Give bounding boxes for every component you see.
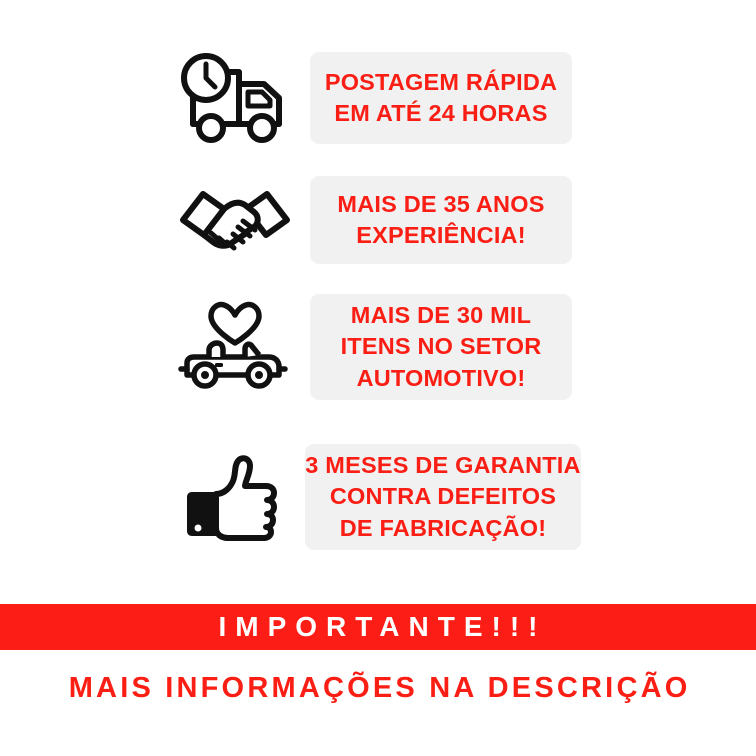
feature-line: EXPERIÊNCIA! — [356, 220, 526, 251]
feature-row-warranty: 3 MESES DE GARANTIA CONTRA DEFEITOS DE F… — [160, 442, 610, 552]
footer-note: MAIS INFORMAÇÕES NA DESCRIÇÃO — [0, 663, 756, 713]
feature-text-panel-catalog: MAIS DE 30 MIL ITENS NO SETOR AUTOMOTIVO… — [310, 294, 572, 400]
feature-row-shipping: POSTAGEM RÁPIDA EM ATÉ 24 HORAS — [160, 46, 600, 150]
feature-line: DE FABRICAÇÃO! — [340, 513, 546, 544]
important-banner-text: IMPORTANTE!!! — [210, 611, 547, 643]
feature-line: EM ATÉ 24 HORAS — [334, 98, 547, 129]
feature-text-panel-experience: MAIS DE 35 ANOS EXPERIÊNCIA! — [310, 176, 572, 264]
feature-line: AUTOMOTIVO! — [357, 363, 526, 394]
feature-text-panel-warranty: 3 MESES DE GARANTIA CONTRA DEFEITOS DE F… — [305, 444, 581, 550]
feature-line: ITENS NO SETOR — [341, 331, 542, 362]
car-heart-icon — [160, 297, 310, 397]
feature-line: 3 MESES DE GARANTIA — [305, 450, 580, 481]
feature-text-panel-shipping: POSTAGEM RÁPIDA EM ATÉ 24 HORAS — [310, 52, 572, 144]
footer-note-text: MAIS INFORMAÇÕES NA DESCRIÇÃO — [66, 672, 691, 705]
thumbs-up-icon — [160, 448, 305, 546]
feature-row-experience: MAIS DE 35 ANOS EXPERIÊNCIA! — [160, 172, 600, 268]
promo-banner-page: POSTAGEM RÁPIDA EM ATÉ 24 HORAS — [0, 0, 756, 756]
important-banner: IMPORTANTE!!! — [0, 604, 756, 650]
feature-line: CONTRA DEFEITOS — [330, 481, 556, 512]
feature-line: POSTAGEM RÁPIDA — [325, 67, 557, 98]
feature-line: MAIS DE 35 ANOS — [337, 189, 544, 220]
delivery-truck-clock-icon — [160, 50, 310, 146]
feature-line: MAIS DE 30 MIL — [351, 300, 531, 331]
handshake-icon — [160, 176, 310, 264]
feature-row-catalog: MAIS DE 30 MIL ITENS NO SETOR AUTOMOTIVO… — [160, 292, 600, 402]
